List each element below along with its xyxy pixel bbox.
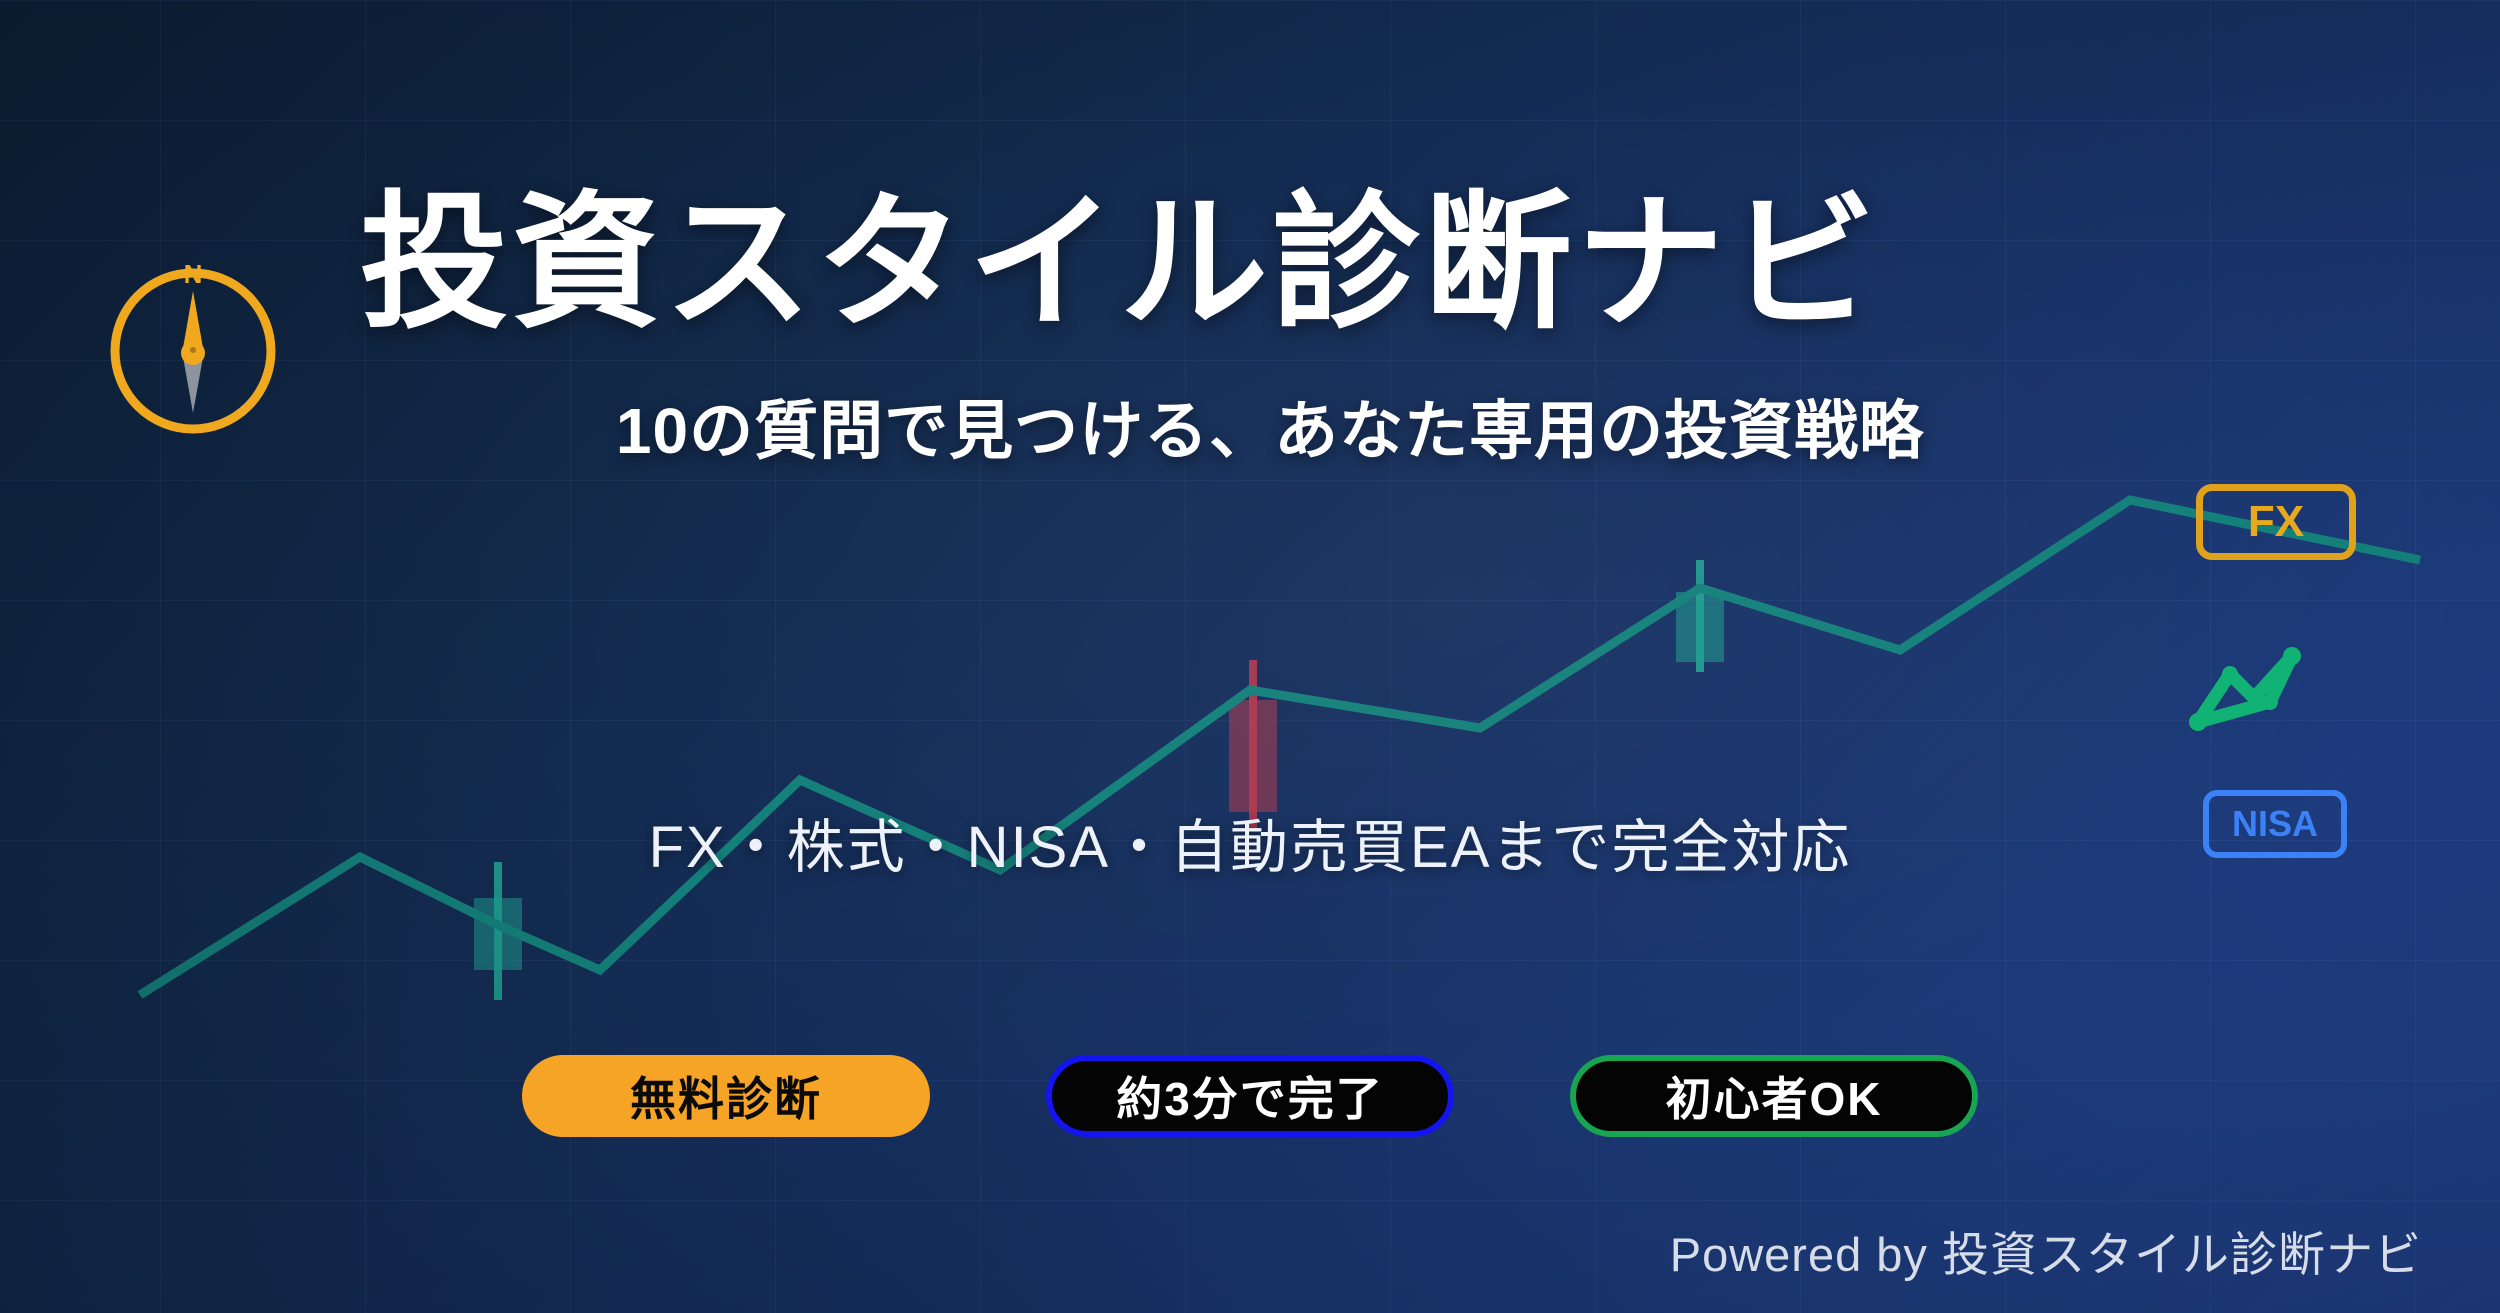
candlestick-group <box>474 560 1724 1000</box>
compass-north-label: N <box>184 259 203 289</box>
badge-row: 無料診断 約3分で完了 初心者OK <box>0 1055 2500 1137</box>
candlestick-wick <box>1696 560 1704 672</box>
badge-beginner-ok[interactable]: 初心者OK <box>1570 1055 1978 1137</box>
footer-credit: Powered by 投資スタイル診断ナビ <box>1670 1216 2422 1285</box>
page-title: 投資スタイル診断ナビ <box>360 190 2180 338</box>
trend-up-icon <box>2182 626 2342 734</box>
page-tertiary-line: FX・株式・NISA・自動売買EAまで完全対応 <box>0 800 2500 884</box>
tag-nisa: NISA <box>2203 790 2347 858</box>
tag-fx: FX <box>2196 484 2356 560</box>
candlestick-body <box>1676 592 1724 662</box>
candlestick-body <box>474 898 522 970</box>
badge-free-diagnosis[interactable]: 無料診断 <box>522 1055 930 1137</box>
hero-banner: N 投資スタイル診断ナビ 10の質問で見つける、あなた専用の投資戦略 FX・株式… <box>0 0 2500 1313</box>
headline-block: 投資スタイル診断ナビ 10の質問で見つける、あなた専用の投資戦略 <box>360 190 2180 472</box>
candlestick-body <box>1229 700 1277 812</box>
chart-line <box>140 500 2420 995</box>
page-subtitle: 10の質問で見つける、あなた専用の投資戦略 <box>360 380 2180 472</box>
badge-duration[interactable]: 約3分で完了 <box>1046 1055 1454 1137</box>
compass-icon: N <box>93 245 293 445</box>
